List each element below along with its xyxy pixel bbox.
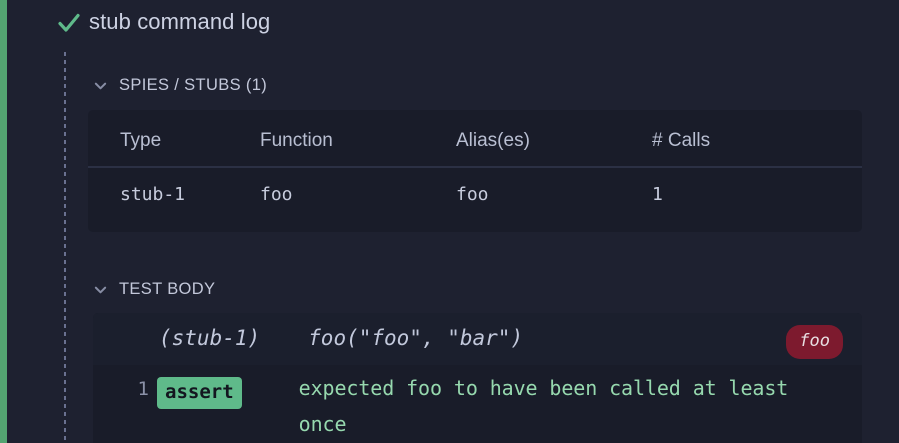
command-row-stub[interactable]: (stub-1) foo("foo", "bar") foo	[93, 313, 862, 365]
spies-stubs-panel: Type Function Alias(es) # Calls stub-1 f…	[88, 110, 862, 232]
chevron-down-icon	[93, 282, 108, 297]
column-header-type: Type	[88, 110, 260, 167]
assert-status-badge: assert	[157, 377, 242, 409]
column-header-alias: Alias(es)	[456, 110, 652, 167]
column-header-calls: # Calls	[652, 110, 862, 167]
command-number: 1	[93, 370, 155, 408]
table-row[interactable]: stub-1 foo foo 1	[88, 167, 862, 205]
spies-stubs-section-header[interactable]: SPIES / STUBS (1)	[93, 74, 267, 96]
test-pass-status-bar	[0, 0, 7, 443]
column-header-function: Function	[260, 110, 456, 167]
test-body-section-header[interactable]: TEST BODY	[93, 278, 215, 300]
test-body-section-label: TEST BODY	[119, 280, 215, 299]
cell-function: foo	[260, 167, 456, 205]
cell-calls: 1	[652, 167, 862, 205]
command-row-assert[interactable]: 1 assert expected foo to have been calle…	[93, 365, 862, 442]
check-icon	[56, 10, 82, 36]
test-body-panel: (stub-1) foo("foo", "bar") foo 1 assert …	[93, 313, 862, 443]
page-title: stub command log	[89, 7, 270, 37]
cell-type: stub-1	[88, 167, 260, 205]
cell-alias: foo	[456, 167, 652, 205]
spies-stubs-section-label: SPIES / STUBS (1)	[119, 76, 267, 95]
alias-badge[interactable]: foo	[786, 325, 843, 359]
cypress-command-log: stub command log SPIES / STUBS (1) Type …	[0, 0, 899, 443]
assert-message: expected foo to have been called at leas…	[299, 370, 862, 442]
chevron-down-icon	[93, 78, 108, 93]
command-method-call: foo("foo", "bar")	[308, 319, 523, 357]
table-header-row: Type Function Alias(es) # Calls	[88, 110, 862, 167]
test-indent-guide-line	[64, 52, 66, 443]
command-alias-label: (stub-1)	[155, 319, 260, 357]
spies-stubs-table: Type Function Alias(es) # Calls stub-1 f…	[88, 110, 862, 205]
